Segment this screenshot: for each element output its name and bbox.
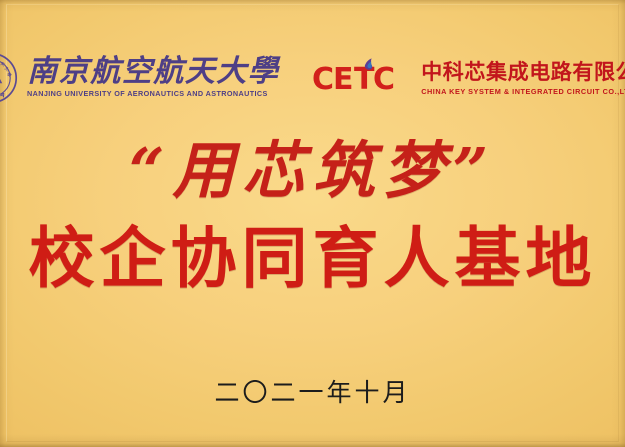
plaque-title-text: 校企协同育人基地: [0, 223, 625, 294]
nuaa-circular-seal-icon: 1952 南 京 航 空 航 天 大 學 N U: [0, 52, 18, 104]
university-name-en: NANJING UNIVERSITY OF AERONAUTICS AND AS…: [27, 91, 284, 98]
company-name-en: CHINA KEY SYSTEM & INTEGRATED CIRCUIT CO…: [421, 88, 625, 95]
logo-row: 1952 南 京 航 空 航 天 大 學 N U: [0, 44, 625, 112]
company-logo-block: CE T C 中科芯集成电路有限公司 CHINA KEY SYSTEM & IN…: [313, 58, 625, 98]
commemorative-plaque: 1952 南 京 航 空 航 天 大 學 N U: [0, 0, 625, 447]
slogan-text: “用芯筑梦”: [0, 138, 625, 203]
svg-text:C: C: [373, 62, 395, 97]
svg-text:學: 學: [6, 71, 13, 78]
university-logo-block: 1952 南 京 航 空 航 天 大 學 N U: [0, 52, 279, 104]
university-name-cn: 南京航空航天大學: [27, 57, 279, 87]
cetc-wordmark-icon: CE T C: [313, 58, 409, 98]
svg-text:CE: CE: [313, 62, 353, 97]
headline-block: “用芯筑梦” 校企协同育人基地: [0, 138, 625, 294]
company-name-block: 中科芯集成电路有限公司 CHINA KEY SYSTEM & INTEGRATE…: [421, 61, 625, 95]
company-name-cn: 中科芯集成电路有限公司: [421, 62, 625, 83]
university-name-block: 南京航空航天大學 NANJING UNIVERSITY OF AERONAUTI…: [27, 57, 279, 98]
plaque-date-text: 二〇二一年十月: [0, 373, 625, 409]
